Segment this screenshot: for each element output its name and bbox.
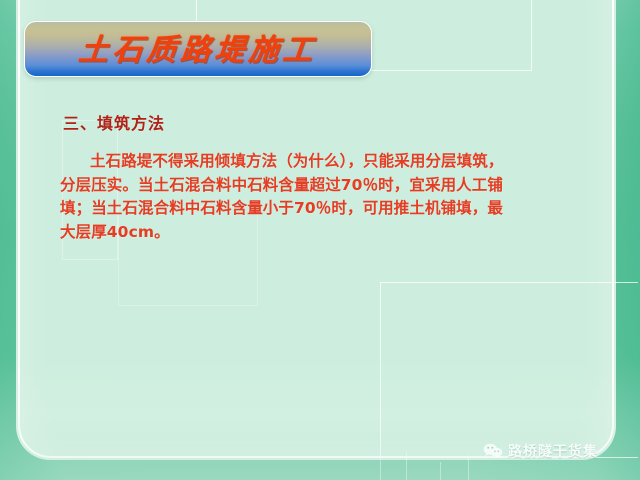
slide-title-plaque: 土石质路堤施工 [24,21,372,77]
bottom-glow [0,360,640,480]
body-line: 大层厚40cm。 [60,221,576,245]
body-line: 土石路堤不得采用倾填方法（为什么），只能采用分层填筑， [60,150,576,174]
section-heading: 三、填筑方法 [63,110,165,134]
body-text-block: 土石路堤不得采用倾填方法（为什么），只能采用分层填筑， 分层压实。当土石混合料中… [60,150,576,244]
wechat-icon [483,443,503,459]
body-line: 填；当土石混合料中石料含量小于70％时，可用推土机铺填，最 [60,197,576,221]
slide-title: 土石质路堤施工 [77,25,320,69]
body-line: 分层压实。当土石混合料中石料含量超过70％时，宜采用人工铺 [60,174,576,198]
watermark-label: 路桥隧干货集 [508,441,598,461]
presentation-slide: 土石质路堤施工 三、填筑方法 土石路堤不得采用倾填方法（为什么），只能采用分层填… [0,0,640,480]
watermark: 路桥隧干货集 [483,441,598,461]
